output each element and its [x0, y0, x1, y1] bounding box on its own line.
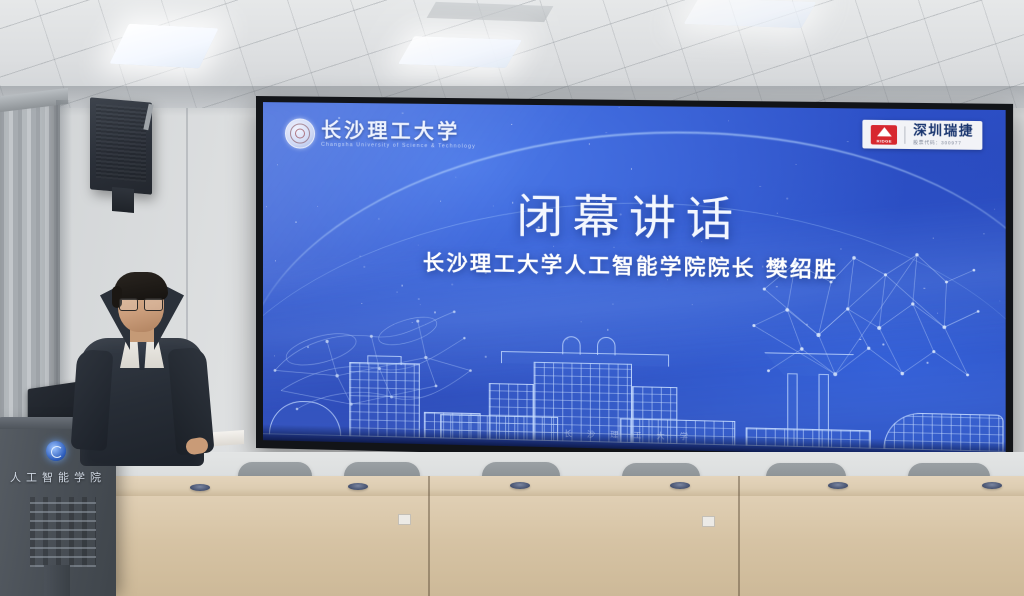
- led-panel-light: [109, 24, 218, 69]
- university-logo-text: 长沙理工大学 Changsha University of Science & …: [321, 120, 476, 150]
- main-building-roof: [501, 351, 669, 367]
- power-socket-plate: [398, 514, 411, 525]
- star-dot: [581, 321, 582, 322]
- university-seal-icon: [285, 118, 315, 148]
- university-name-en: Changsha University of Science & Technol…: [321, 143, 476, 150]
- conference-table: [0, 476, 1024, 596]
- star-dot: [402, 112, 403, 113]
- speaker-bracket: [112, 187, 134, 213]
- wall-mounted-loudspeaker: [90, 97, 152, 194]
- ai-school-emblem-icon: [46, 441, 66, 461]
- presenter-hair: [114, 272, 168, 300]
- cable-grommet: [510, 482, 530, 489]
- star-dot: [847, 141, 848, 142]
- gate-tower-canopy: [764, 352, 854, 376]
- power-socket-plate: [702, 516, 715, 527]
- presentation-display: 长沙理工大学 Changsha University of Science & …: [256, 96, 1013, 467]
- table-front-panel: [0, 496, 1024, 596]
- ridge-mark-icon: RIDGE: [871, 125, 897, 145]
- star-dot: [606, 132, 608, 134]
- presenter-left-arm: [71, 349, 114, 451]
- eyeglasses-icon: [119, 298, 163, 309]
- cable-grommet: [828, 482, 848, 489]
- sponsor-divider: [905, 126, 906, 143]
- star-dot: [631, 168, 633, 170]
- star-dot: [728, 120, 729, 121]
- cable-grommet: [982, 482, 1002, 489]
- university-logo: 长沙理工大学 Changsha University of Science & …: [285, 118, 476, 150]
- main-building-spire: [597, 337, 615, 356]
- star-dot: [588, 143, 590, 145]
- sponsor-text: 深圳瑞捷 股票代码：300977: [913, 124, 974, 145]
- cable-grommet: [670, 482, 690, 489]
- star-dot: [796, 164, 797, 165]
- tower-cap: [367, 355, 401, 365]
- star-dot: [999, 301, 1000, 302]
- presenter-person: [74, 276, 210, 462]
- sponsor-stock-code: 股票代码：300977: [913, 140, 974, 145]
- podium-vent-grille: [30, 497, 96, 567]
- main-building-spire: [562, 336, 580, 355]
- table-seam: [428, 476, 430, 596]
- star-dot: [613, 303, 614, 304]
- star-dot: [691, 304, 692, 305]
- slide-screen: 长沙理工大学 Changsha University of Science & …: [263, 102, 1006, 458]
- podium-post: [44, 565, 70, 596]
- university-name-cn: 长沙理工大学: [321, 120, 476, 142]
- star-dot: [512, 124, 513, 125]
- table-seam: [738, 476, 740, 596]
- sponsor-mark-label: RIDGE: [871, 138, 897, 143]
- star-dot: [277, 165, 278, 166]
- led-panel-light: [398, 36, 522, 68]
- sponsor-logo: RIDGE 深圳瑞捷 股票代码：300977: [863, 120, 983, 150]
- star-dot: [618, 107, 619, 108]
- cable-grommet: [348, 483, 368, 490]
- podium-label: 人工智能学院: [0, 469, 116, 485]
- cable-grommet: [190, 484, 210, 491]
- conference-room-photo: 长沙理工大学 Changsha University of Science & …: [0, 0, 1024, 596]
- sponsor-name-cn: 深圳瑞捷: [913, 124, 974, 138]
- led-panel-light: [684, 0, 817, 28]
